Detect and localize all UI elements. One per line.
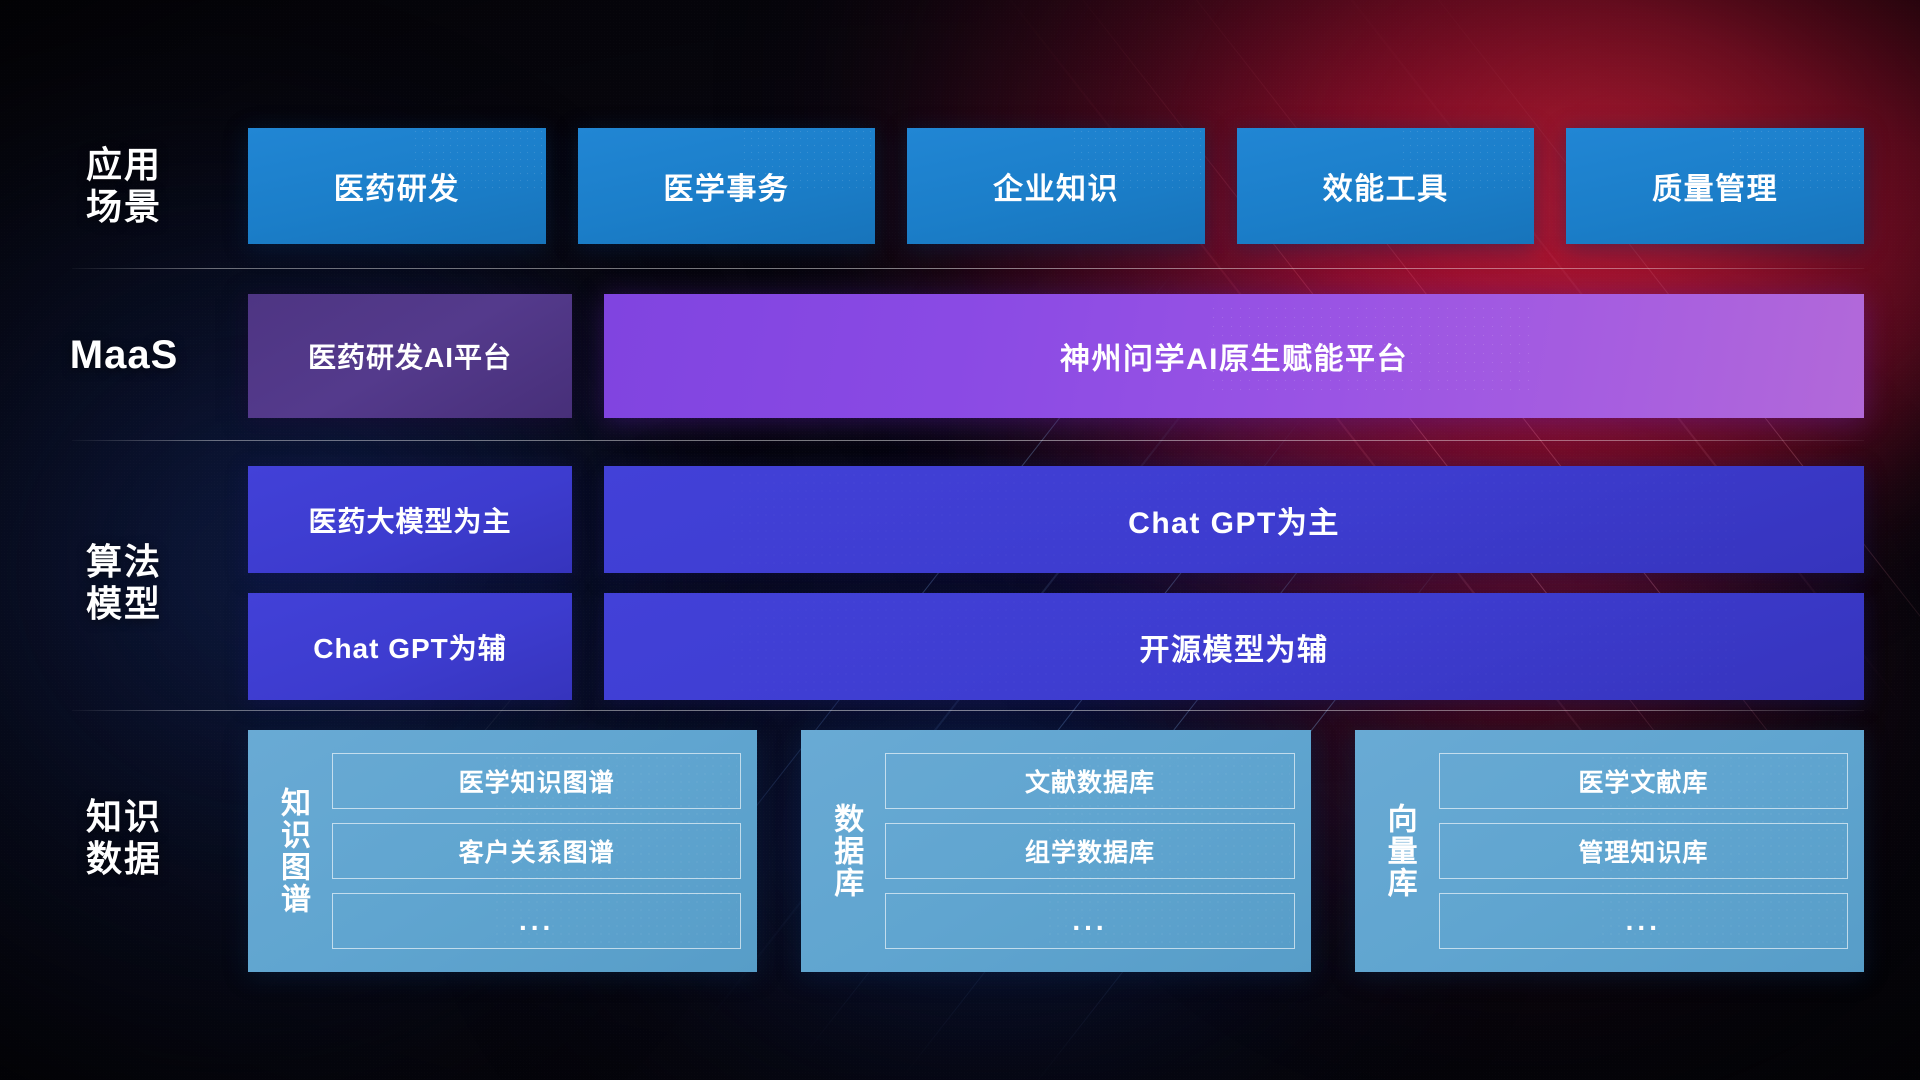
knowledge-panel-vector-store[interactable]: 向量库 医学文献库 管理知识库 ... [1355,730,1864,972]
knowledge-item-omics-database[interactable]: 组学数据库 [885,823,1294,879]
app-box-quality-management[interactable]: 质量管理 [1566,128,1864,244]
knowledge-panels: 知识图谱 医学知识图谱 客户关系图谱 ... 数据库 [248,730,1920,972]
maas-box-label: 医药研发AI平台 [308,336,512,376]
knowledge-item-label: 管理知识库 [1578,833,1708,869]
algo-box-label: 医药大模型为主 [308,500,511,540]
knowledge-item-more[interactable]: ... [332,893,741,949]
knowledge-item-label: 文献数据库 [1025,763,1155,799]
knowledge-panel-items: 文献数据库 组学数据库 ... [885,753,1294,949]
knowledge-panel-vertical-label: 知识图谱 [264,744,320,958]
algo-box-label: Chat GPT为辅 [313,627,507,667]
knowledge-item-management-knowledge-store[interactable]: 管理知识库 [1439,823,1848,879]
knowledge-item-label: 医学知识图谱 [459,763,615,799]
algorithm-model-boxes: 医药大模型为主 Chat GPT为主 Chat GPT为辅 开源模型为辅 [248,466,1920,700]
row-label-application-scenarios: 应用 场景 [0,144,248,229]
algo-box-label: 开源模型为辅 [1140,625,1329,669]
knowledge-panel-vertical-label: 数据库 [817,744,873,958]
row-maas: MaaS 医药研发AI平台 神州问学AI原生赋能平台 [0,292,1920,420]
knowledge-item-label: ... [1626,905,1661,937]
knowledge-panel-items: 医学文献库 管理知识库 ... [1439,753,1848,949]
row-application-scenarios: 应用 场景 医药研发 医学事务 企业知识 效能工具 质量管理 [0,126,1920,246]
knowledge-item-more[interactable]: ... [1439,893,1848,949]
knowledge-item-customer-relation-graph[interactable]: 客户关系图谱 [332,823,741,879]
algo-box-pharma-llm-primary[interactable]: 医药大模型为主 [248,466,572,573]
algorithm-line-primary: 医药大模型为主 Chat GPT为主 [248,466,1864,573]
knowledge-panel-items: 医学知识图谱 客户关系图谱 ... [332,753,741,949]
algo-box-chatgpt-primary[interactable]: Chat GPT为主 [604,466,1864,573]
divider-apps-maas [72,268,1864,269]
knowledge-item-medical-knowledge-graph[interactable]: 医学知识图谱 [332,753,741,809]
knowledge-item-label: 组学数据库 [1025,833,1155,869]
architecture-diagram: 应用 场景 医药研发 医学事务 企业知识 效能工具 质量管理 MaaS 医药研发… [0,0,1920,1080]
app-box-enterprise-knowledge[interactable]: 企业知识 [907,128,1205,244]
app-box-label: 医学事务 [663,164,789,208]
application-scenario-boxes: 医药研发 医学事务 企业知识 效能工具 质量管理 [248,128,1920,244]
knowledge-item-literature-database[interactable]: 文献数据库 [885,753,1294,809]
row-knowledge-data: 知识 数据 知识图谱 医学知识图谱 客户关系图谱 ... 数据库 [0,730,1920,980]
app-box-medical-affairs[interactable]: 医学事务 [578,128,876,244]
knowledge-item-label: ... [519,905,554,937]
app-box-efficiency-tools[interactable]: 效能工具 [1237,128,1535,244]
knowledge-item-label: 医学文献库 [1578,763,1708,799]
algo-box-chatgpt-secondary[interactable]: Chat GPT为辅 [248,593,572,700]
maas-box-label: 神州问学AI原生赋能平台 [1060,334,1408,378]
algo-box-label: Chat GPT为主 [1128,498,1340,542]
app-box-label: 效能工具 [1323,164,1449,208]
knowledge-panel-vertical-label: 向量库 [1371,744,1427,958]
knowledge-item-more[interactable]: ... [885,893,1294,949]
row-algorithm-models: 算法 模型 医药大模型为主 Chat GPT为主 Chat GPT为辅 开源模型… [0,466,1920,700]
maas-box-drug-rd-ai-platform[interactable]: 医药研发AI平台 [248,294,572,418]
knowledge-item-label: 客户关系图谱 [459,833,615,869]
knowledge-item-label: ... [1072,905,1107,937]
algo-box-opensource-secondary[interactable]: 开源模型为辅 [604,593,1864,700]
maas-box-shenzhou-wenxue-platform[interactable]: 神州问学AI原生赋能平台 [604,294,1864,418]
app-box-label: 企业知识 [993,164,1119,208]
knowledge-item-medical-literature-store[interactable]: 医学文献库 [1439,753,1848,809]
row-label-knowledge-data: 知识 数据 [0,796,248,881]
maas-boxes: 医药研发AI平台 神州问学AI原生赋能平台 [248,294,1920,418]
divider-maas-algorithm [72,440,1864,441]
algorithm-line-secondary: Chat GPT为辅 开源模型为辅 [248,593,1864,700]
row-label-maas: MaaS [0,332,248,379]
knowledge-panel-database[interactable]: 数据库 文献数据库 组学数据库 ... [801,730,1310,972]
row-label-algorithm-models: 算法 模型 [0,541,248,626]
app-box-drug-rd[interactable]: 医药研发 [248,128,546,244]
app-box-label: 医药研发 [334,164,460,208]
divider-algorithm-knowledge [72,710,1864,711]
knowledge-panel-knowledge-graph[interactable]: 知识图谱 医学知识图谱 客户关系图谱 ... [248,730,757,972]
app-box-label: 质量管理 [1652,164,1778,208]
